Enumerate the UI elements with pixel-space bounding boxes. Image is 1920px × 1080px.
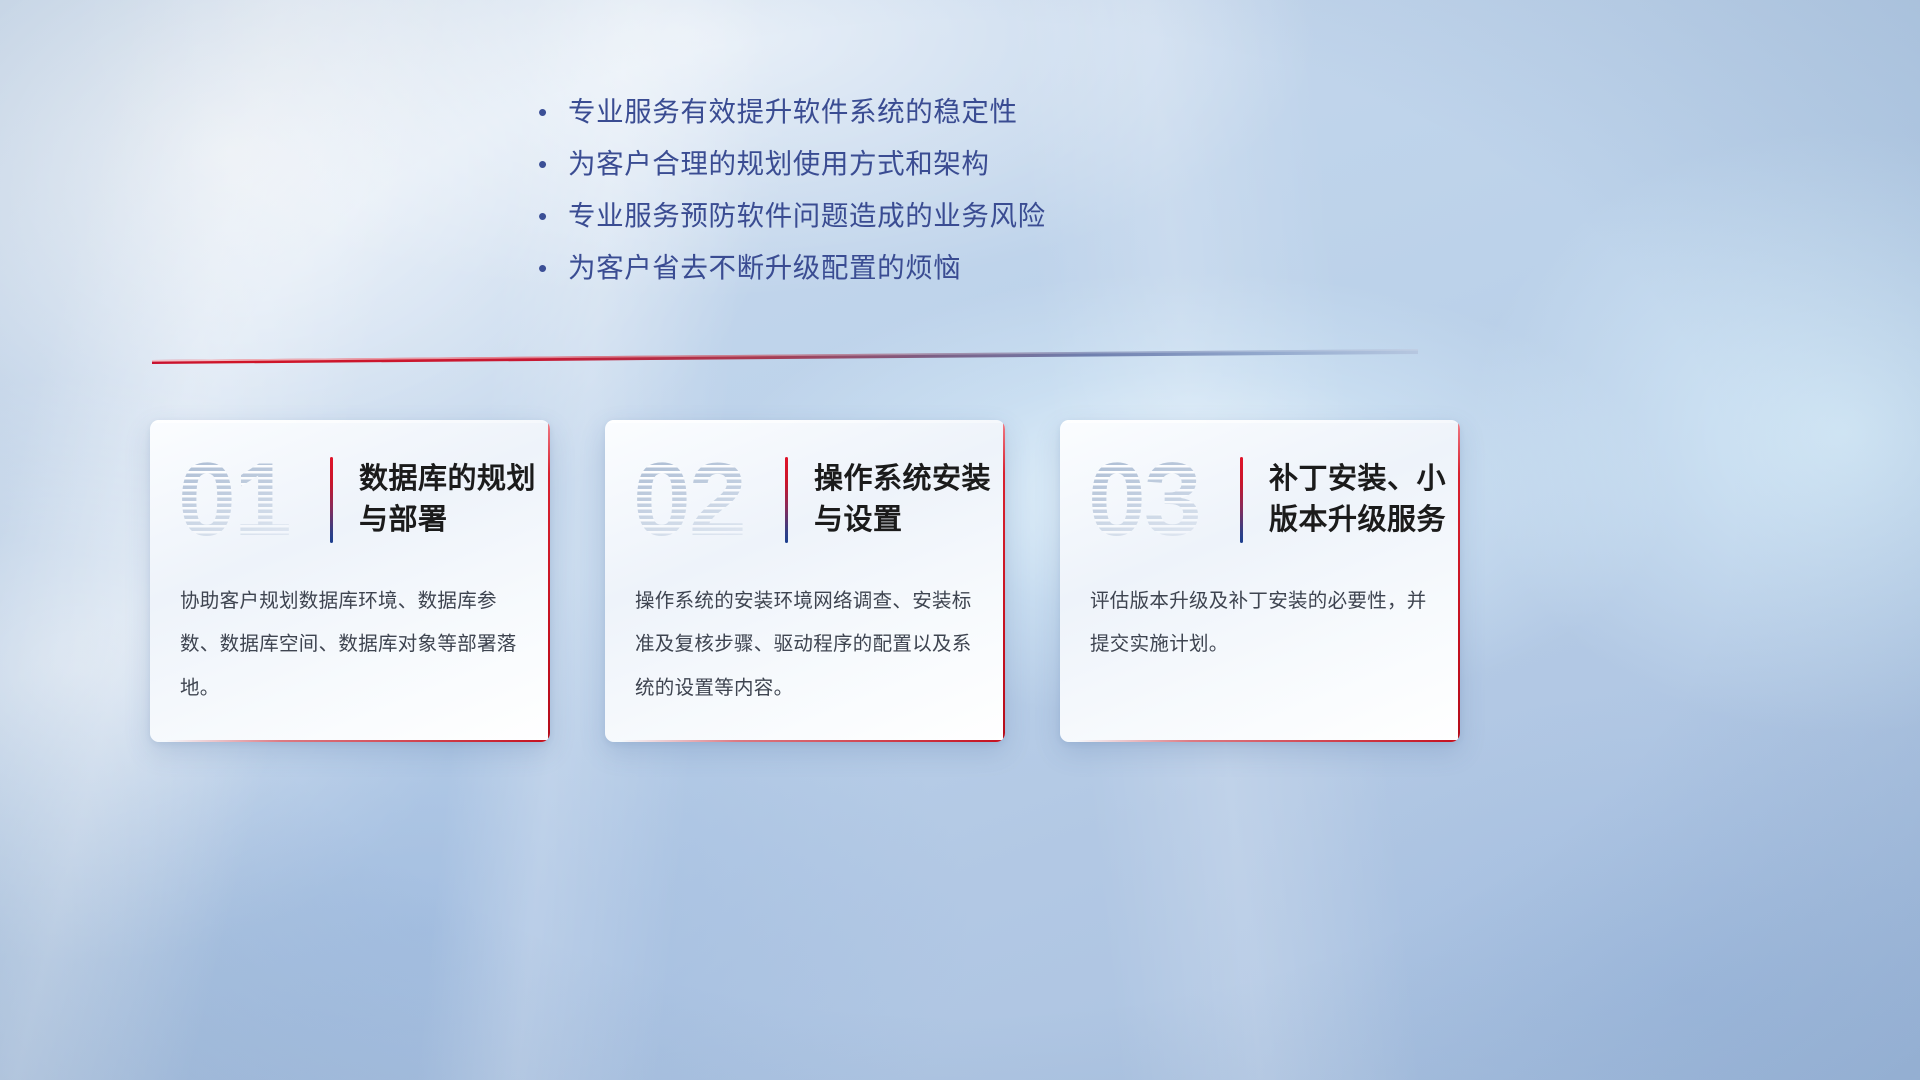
striped-number-icon: 02 — [631, 447, 781, 553]
benefits-bullet-list: • 专业服务有效提升软件系统的稳定性 • 为客户合理的规划使用方式和架构 • 专… — [538, 86, 1298, 294]
card-top-sheen — [1060, 420, 1460, 423]
section-divider — [150, 340, 1420, 368]
bullet-text: 专业服务预防软件问题造成的业务风险 — [568, 190, 1046, 242]
card-top-sheen — [150, 420, 550, 423]
service-cards: 01 数据库的规划 与部署 协助客户规划数据库环境、数据库参数、数据库空间、数据… — [150, 420, 1460, 750]
card-accent-border-bottom — [621, 740, 1005, 742]
divider-wedge-icon — [150, 340, 1420, 368]
card-top-sheen — [605, 420, 1005, 423]
striped-number-icon: 03 — [1086, 447, 1236, 553]
bullet-dot-icon: • — [538, 138, 568, 190]
list-item: • 为客户省去不断升级配置的烦恼 — [538, 242, 1298, 294]
service-card[interactable]: 01 数据库的规划 与部署 协助客户规划数据库环境、数据库参数、数据库空间、数据… — [150, 420, 550, 742]
card-header: 01 数据库的规划 与部署 — [150, 440, 550, 560]
bullet-text: 为客户合理的规划使用方式和架构 — [568, 138, 990, 190]
card-title-accent-bar — [1240, 457, 1243, 543]
bullet-text: 为客户省去不断升级配置的烦恼 — [568, 242, 961, 294]
bullet-text: 专业服务有效提升软件系统的稳定性 — [568, 86, 1018, 138]
service-card[interactable]: 02 操作系统安装 与设置 操作系统的安装环境网络调查、安装标准及复核步骤、驱动… — [605, 420, 1005, 742]
bullet-dot-icon: • — [538, 190, 568, 242]
card-title: 操作系统安装 与设置 — [814, 459, 991, 541]
card-accent-border-bottom — [166, 740, 550, 742]
card-body-text: 协助客户规划数据库环境、数据库参数、数据库空间、数据库对象等部署落地。 — [180, 580, 524, 710]
striped-number-icon: 01 — [176, 447, 326, 553]
card-accent-border-bottom — [1076, 740, 1460, 742]
card-body-text: 操作系统的安装环境网络调查、安装标准及复核步骤、驱动程序的配置以及系统的设置等内… — [635, 580, 979, 710]
card-number-text: 02 — [633, 447, 745, 553]
card-number-text: 01 — [178, 447, 290, 553]
card-title: 补丁安装、小 版本升级服务 — [1269, 459, 1446, 541]
card-title-accent-bar — [785, 457, 788, 543]
bullet-dot-icon: • — [538, 242, 568, 294]
service-card[interactable]: 03 补丁安装、小 版本升级服务 评估版本升级及补丁安装的必要性，并提交实施计划… — [1060, 420, 1460, 742]
list-item: • 专业服务预防软件问题造成的业务风险 — [538, 190, 1298, 242]
card-body-text: 评估版本升级及补丁安装的必要性，并提交实施计划。 — [1090, 580, 1434, 667]
card-number-text: 03 — [1088, 447, 1200, 553]
card-title: 数据库的规划 与部署 — [359, 459, 536, 541]
list-item: • 为客户合理的规划使用方式和架构 — [538, 138, 1298, 190]
card-title-accent-bar — [330, 457, 333, 543]
list-item: • 专业服务有效提升软件系统的稳定性 — [538, 86, 1298, 138]
card-number-watermark: 03 — [1086, 447, 1236, 553]
card-header: 03 补丁安装、小 版本升级服务 — [1060, 440, 1460, 560]
bullet-dot-icon: • — [538, 86, 568, 138]
card-number-watermark: 01 — [176, 447, 326, 553]
card-number-watermark: 02 — [631, 447, 781, 553]
card-header: 02 操作系统安装 与设置 — [605, 440, 1005, 560]
